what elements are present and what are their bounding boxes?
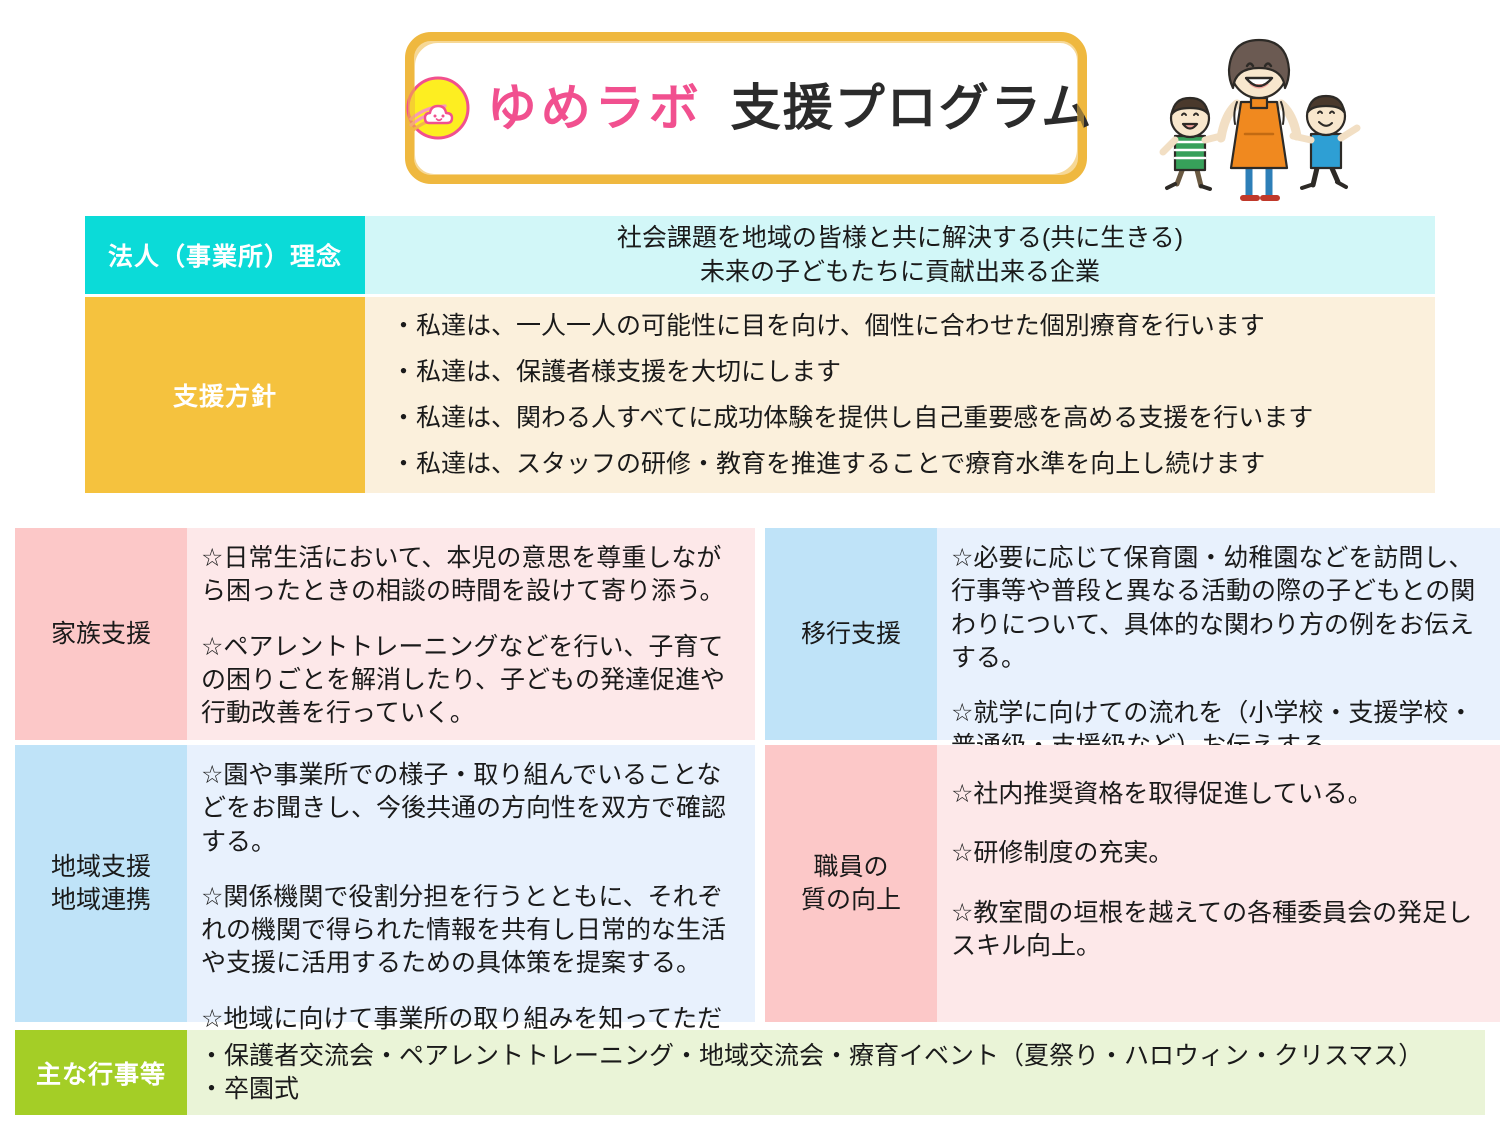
community-support-paragraph: ☆関係機関で役割分担を行うとともに、それぞれの機関で得られた情報を共有し日常的な… xyxy=(201,881,745,981)
community-support-label-line-2: 地域連携 xyxy=(51,886,151,914)
philosophy-row: 法人（事業所）理念 社会課題を地域の皆様と共に解決する(共に生きる) 未来の子ど… xyxy=(85,216,1435,294)
philosophy-label: 法人（事業所）理念 xyxy=(85,216,365,294)
family-support-label: 家族支援 xyxy=(15,528,187,740)
philosophy-line-2: 未来の子どもたちに貢献出来る企業 xyxy=(700,255,1100,290)
sun-cloud-rainbow-logo-icon xyxy=(405,75,471,141)
staff-quality-paragraph: ☆社内推奨資格を取得促進している。 xyxy=(951,778,1495,811)
community-support-paragraph: ☆園や事業所での様子・取り組んでいることなどをお聞きし、今後共通の方向性を双方で… xyxy=(201,759,745,859)
transition-support-body: ☆必要に応じて保育園・幼稚園などを訪問し、行事等や普段と異なる活動の際の子どもと… xyxy=(937,528,1500,740)
community-support-label: 地域支援 地域連携 xyxy=(15,745,187,1022)
staff-quality-body: ☆社内推奨資格を取得促進している。 ☆研修制度の充実。 ☆教室間の垣根を越えての… xyxy=(937,745,1500,1022)
policy-item: ・私達は、保護者様支援を大切にします xyxy=(391,357,1435,387)
philosophy-line-1: 社会課題を地域の皆様と共に解決する(共に生きる) xyxy=(617,221,1183,256)
staff-quality-label-line-1: 職員の xyxy=(813,853,888,881)
policy-label: 支援方針 xyxy=(85,297,365,493)
policy-item: ・私達は、スタッフの研修・教育を推進することで療育水準を向上し続けます xyxy=(391,449,1435,479)
main-events-line-1: ・保護者交流会・ペアレントトレーニング・地域交流会・療育イベント（夏祭り・ハロウ… xyxy=(199,1040,1477,1073)
community-support-label-line-1: 地域支援 xyxy=(51,853,151,881)
policy-row: 支援方針 ・私達は、一人一人の可能性に目を向け、個性に合わせた個別療育を行います… xyxy=(85,297,1435,493)
community-support-cell: 地域支援 地域連携 ☆園や事業所での様子・取り組んでいることなどをお聞きし、今後… xyxy=(15,745,755,1022)
philosophy-content: 社会課題を地域の皆様と共に解決する(共に生きる) 未来の子どもたちに貢献出来る企… xyxy=(365,216,1435,294)
support-categories-grid: 家族支援 ☆日常生活において、本児の意思を尊重しながら困ったときの相談の時間を設… xyxy=(15,528,1485,1022)
staff-quality-cell: 職員の 質の向上 ☆社内推奨資格を取得促進している。 ☆研修制度の充実。 ☆教室… xyxy=(765,745,1500,1022)
main-events-body: ・保護者交流会・ペアレントトレーニング・地域交流会・療育イベント（夏祭り・ハロウ… xyxy=(187,1030,1485,1115)
transition-support-label: 移行支援 xyxy=(765,528,937,740)
top-info-table: 法人（事業所）理念 社会課題を地域の皆様と共に解決する(共に生きる) 未来の子ど… xyxy=(85,216,1435,493)
family-support-paragraph: ☆ペアレントトレーニングなどを行い、子育ての困りごとを解消したり、子どもの発達促… xyxy=(201,631,745,731)
page-header: ゆめラボ 支援プログラム xyxy=(0,0,1500,210)
family-support-cell: 家族支援 ☆日常生活において、本児の意思を尊重しながら困ったときの相談の時間を設… xyxy=(15,528,755,740)
transition-support-cell: 移行支援 ☆必要に応じて保育園・幼稚園などを訪問し、行事等や普段と異なる活動の際… xyxy=(765,528,1500,740)
staff-quality-label-line-2: 質の向上 xyxy=(801,886,901,914)
transition-support-paragraph: ☆必要に応じて保育園・幼稚園などを訪問し、行事等や普段と異なる活動の際の子どもと… xyxy=(951,542,1495,675)
policy-content: ・私達は、一人一人の可能性に目を向け、個性に合わせた個別療育を行います ・私達は… xyxy=(365,297,1435,493)
main-events-label: 主な行事等 xyxy=(15,1030,187,1115)
family-support-paragraph: ☆日常生活において、本児の意思を尊重しながら困ったときの相談の時間を設けて寄り添… xyxy=(201,542,745,609)
title-banner: ゆめラボ 支援プログラム xyxy=(405,32,1087,184)
community-support-body: ☆園や事業所での様子・取り組んでいることなどをお聞きし、今後共通の方向性を双方で… xyxy=(187,745,755,1022)
main-events-row: 主な行事等 ・保護者交流会・ペアレントトレーニング・地域交流会・療育イベント（夏… xyxy=(15,1030,1485,1115)
main-events-line-2: ・卒園式 xyxy=(199,1073,1477,1106)
staff-quality-paragraph: ☆研修制度の充実。 xyxy=(951,837,1495,870)
staff-quality-paragraph: ☆教室間の垣根を越えての各種委員会の発足しスキル向上。 xyxy=(951,897,1495,964)
policy-item: ・私達は、関わる人すべてに成功体験を提供し自己重要感を高める支援を行います xyxy=(391,403,1435,433)
staff-quality-label: 職員の 質の向上 xyxy=(765,745,937,1022)
page-title: 支援プログラム xyxy=(731,83,1094,133)
family-support-body: ☆日常生活において、本児の意思を尊重しながら困ったときの相談の時間を設けて寄り添… xyxy=(187,528,755,740)
brand-name: ゆめラボ xyxy=(487,83,703,133)
policy-item: ・私達は、一人一人の可能性に目を向け、個性に合わせた個別療育を行います xyxy=(391,311,1435,341)
teacher-with-children-illustration xyxy=(1145,18,1370,208)
